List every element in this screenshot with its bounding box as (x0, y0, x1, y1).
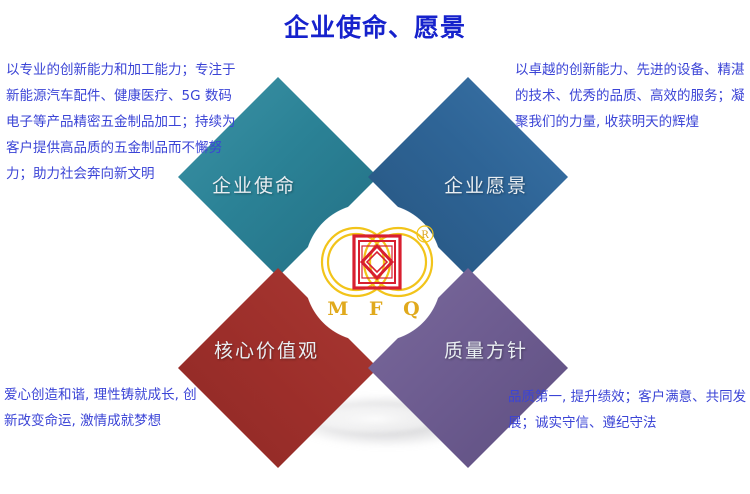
page-title: 企业使命、愿景 (0, 8, 750, 44)
slide-canvas: 企业使命、愿景 企业使命 企业愿景 核心价值观 质量方针 (0, 0, 750, 494)
logo-wordmark: M F Q (327, 298, 426, 320)
mission-text: 以专业的创新能力和加工能力；专注于新能源汽车配件、健康医疗、5G 数码电子等产品… (6, 57, 238, 187)
vision-text: 以卓越的创新能力、先进的设备、精湛的技术、优秀的品质、高效的服务；凝聚我们的力量… (515, 57, 750, 135)
core-values-text: 爱心创造和谐, 理性铸就成长, 创新改变命运, 激情成就梦想 (4, 382, 210, 434)
mfq-logo: R M F Q (312, 218, 442, 330)
quality-policy-text: 品质第一, 提升绩效；客户满意、共同发展；诚实守信、遵纪守法 (508, 384, 750, 436)
mfq-logo-graphic: R M F Q (312, 218, 442, 330)
registered-mark: R (421, 230, 429, 241)
wedge-core-values-label: 核心价值观 (214, 336, 319, 363)
wedge-vision-label: 企业愿景 (444, 171, 528, 198)
wedge-quality-policy-label: 质量方针 (444, 336, 528, 363)
